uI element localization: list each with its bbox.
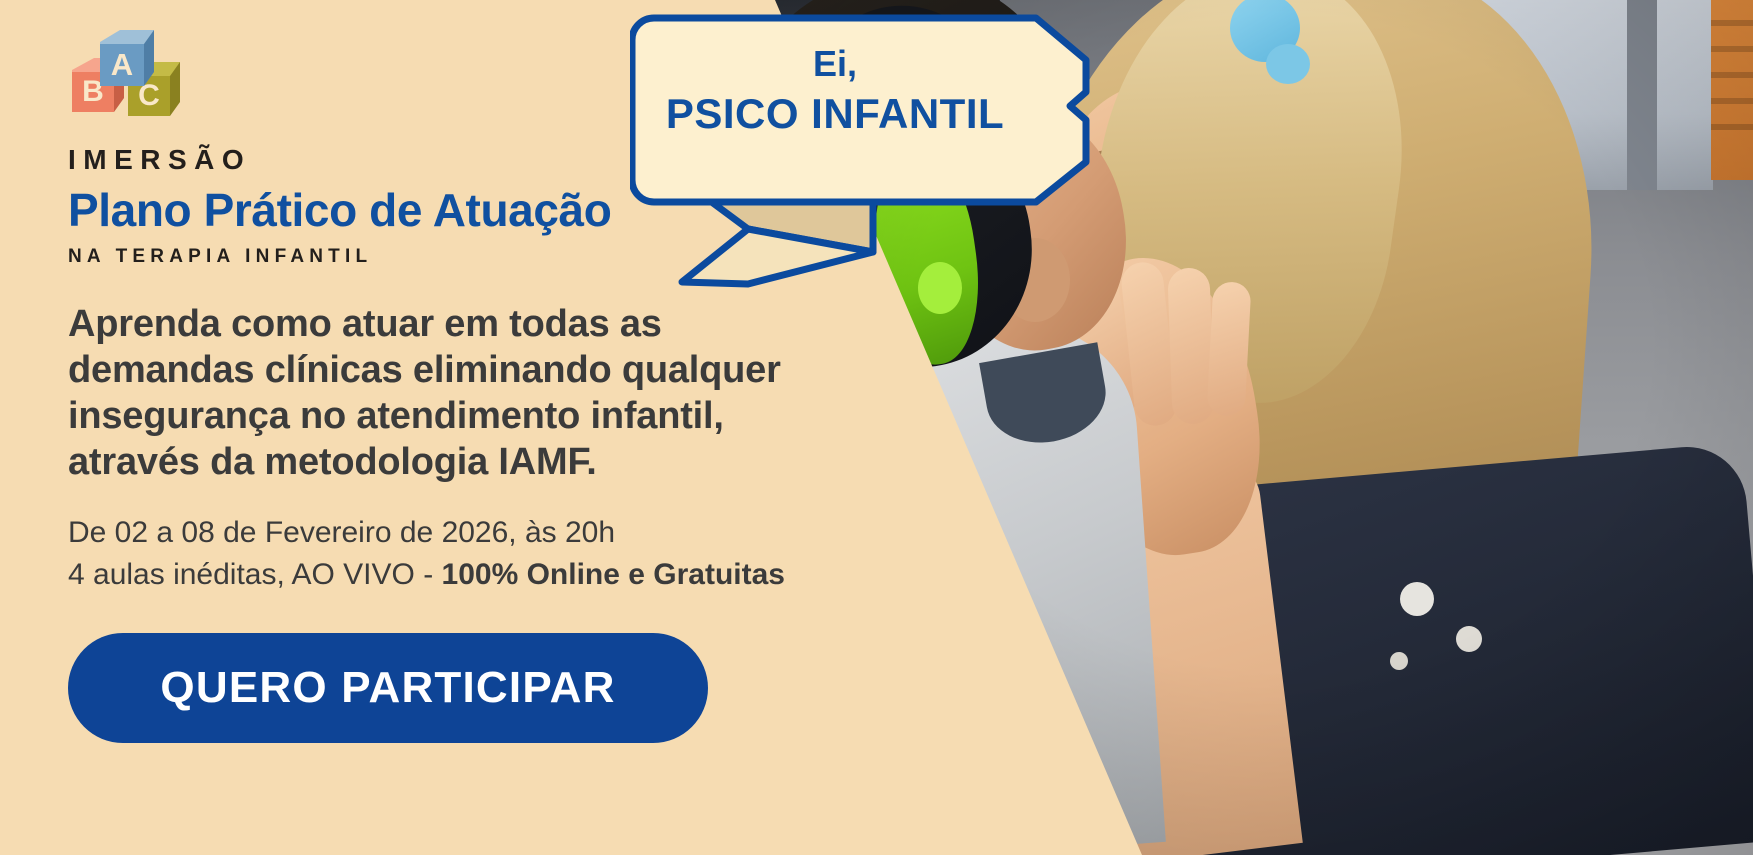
event-format-prefix: 4 aulas inéditas, AO VIVO -	[68, 558, 442, 591]
event-format-strong: 100% Online e Gratuitas	[442, 558, 785, 591]
quero-participar-button[interactable]: QUERO PARTICIPAR	[68, 633, 708, 743]
event-details: De 02 a 08 de Fevereiro de 2026, às 20h …	[68, 512, 908, 597]
brand-eyebrow: IMERSÃO	[68, 146, 908, 174]
block-letter-a: A	[111, 47, 133, 82]
headline-line: Aprenda como atuar em todas as	[68, 302, 828, 348]
brand-subtitle: NA TERAPIA INFANTIL	[68, 247, 908, 266]
promo-banner: Ei, PSICO INFANTIL B C A	[0, 0, 1753, 855]
event-date-line: De 02 a 08 de Fevereiro de 2026, às 20h	[68, 512, 908, 555]
abc-blocks-icon: B C A	[68, 28, 184, 128]
page-title: Plano Prático de Atuação	[68, 186, 908, 235]
abc-blocks-logo: B C A	[68, 28, 184, 128]
headline-line: demandas clínicas eliminando qualquer	[68, 348, 828, 394]
headline-line: insegurança no atendimento infantil,	[68, 394, 828, 440]
event-format-line: 4 aulas inéditas, AO VIVO - 100% Online …	[68, 554, 908, 597]
headline-line: através da metodologia IAMF.	[68, 440, 828, 486]
content-column: B C A IMERSÃO Plano Prático de Atuação N…	[68, 28, 908, 743]
headline: Aprenda como atuar em todas as demandas …	[68, 302, 828, 486]
